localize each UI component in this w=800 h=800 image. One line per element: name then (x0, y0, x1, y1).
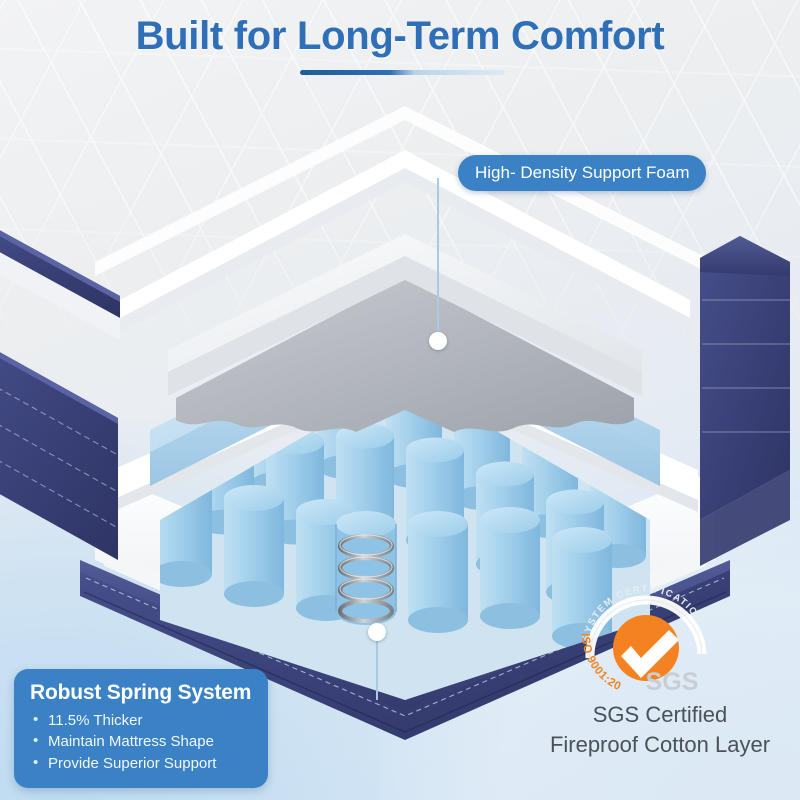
list-item: Maintain Mattress Shape (30, 731, 252, 752)
sgs-wordmark: SGS (646, 668, 699, 696)
spring-system-bullets: 11.5% Thicker Maintain Mattress Shape Pr… (30, 710, 252, 774)
sgs-caption-line-2: Fireproof Cotton Layer (530, 730, 790, 760)
spring-callout-dot (368, 623, 386, 641)
foam-callout-dot (429, 332, 447, 350)
sgs-caption-line-1: SGS Certified (530, 700, 790, 730)
spring-cutaway (336, 511, 396, 625)
list-item: Provide Superior Support (30, 753, 252, 774)
list-item: 11.5% Thicker (30, 710, 252, 731)
foam-callout-leader-line (437, 178, 439, 340)
foam-callout-label[interactable]: High- Density Support Foam (458, 155, 706, 191)
spring-callout-leader-line (376, 638, 378, 700)
spring-system-title: Robust Spring System (30, 681, 252, 705)
sgs-certification-badge: SYSTEM CERTIFICATION ISO 9001:2000 SGS (574, 578, 724, 696)
spring-system-card[interactable]: Robust Spring System 11.5% Thicker Maint… (14, 669, 268, 788)
sgs-caption: SGS Certified Fireproof Cotton Layer (530, 700, 790, 759)
product-infographic: Built for Long-Term Comfort (0, 0, 800, 800)
